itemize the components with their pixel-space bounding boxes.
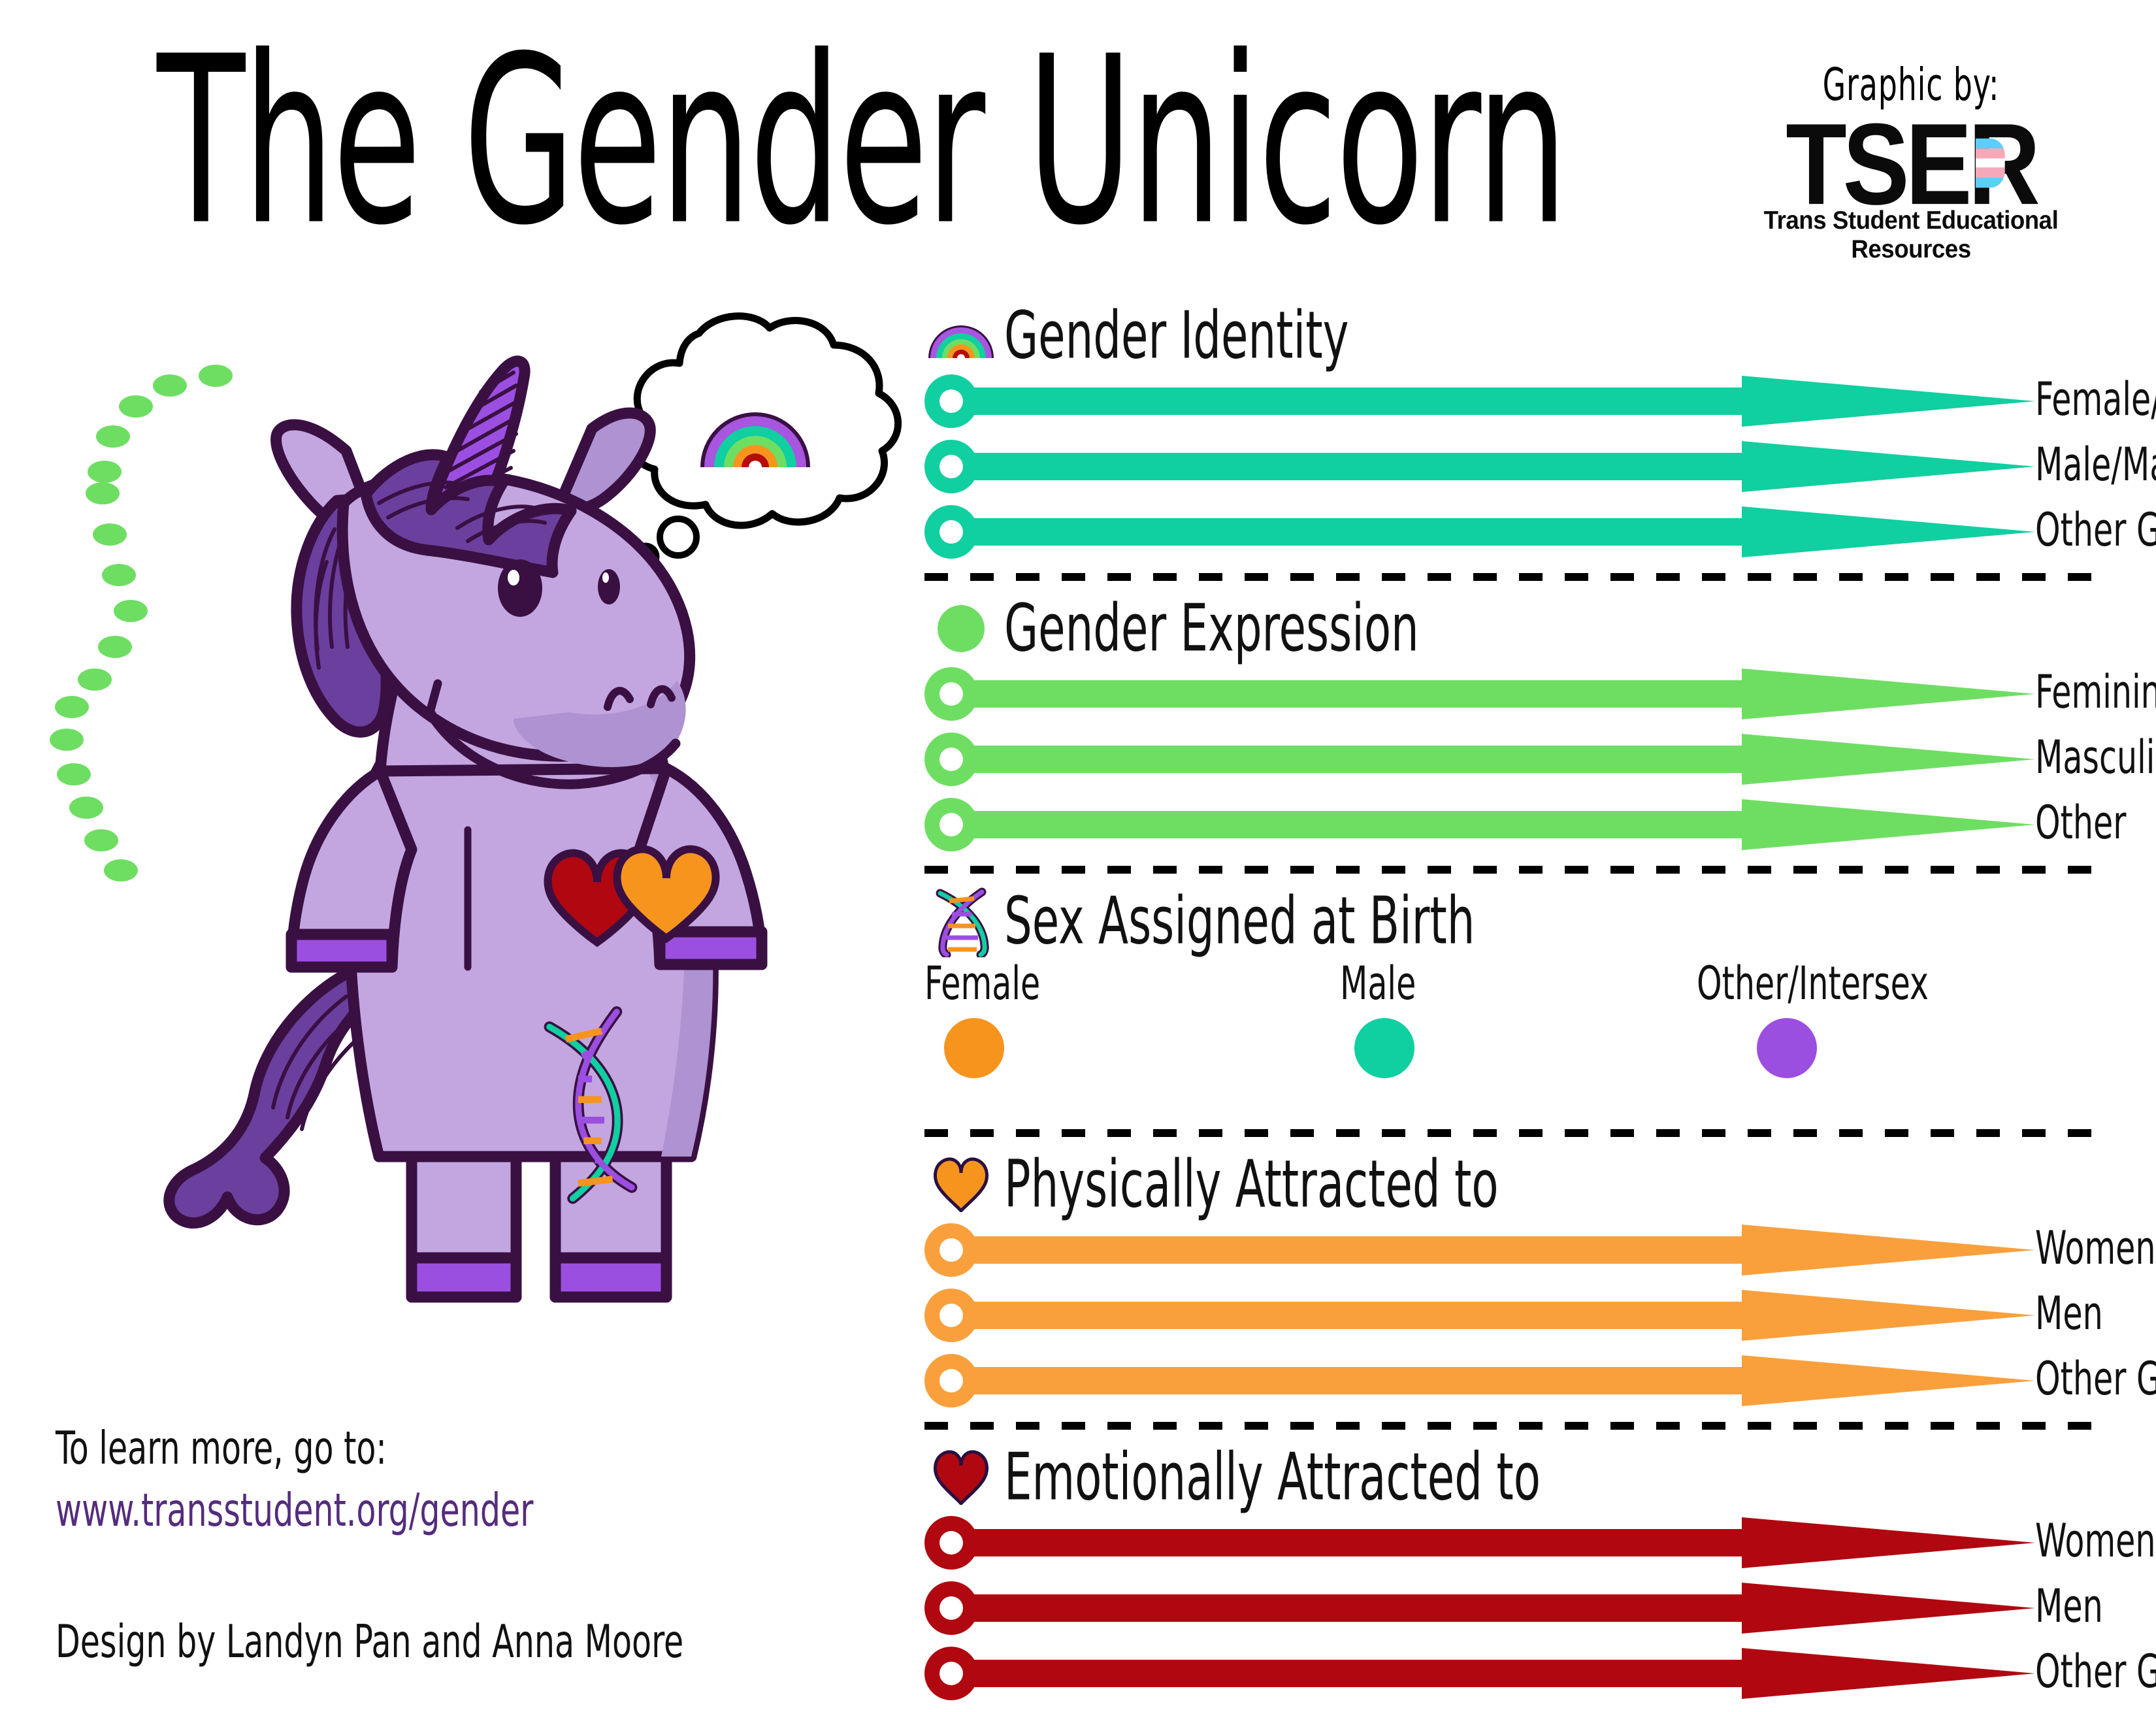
section-sex-assigned-at-birth: Sex Assigned at Birth Female Male Other/…	[924, 883, 2100, 1078]
orange-heart-icon	[924, 1157, 998, 1212]
graphic-credit: Graphic by: TSER Trans Student Education…	[1702, 62, 2120, 264]
option-label: Masculine	[2035, 730, 2156, 784]
footer: To learn more, go to: www.transstudent.o…	[56, 1421, 840, 1662]
sex-option-other-intersex[interactable]: Other/Intersex	[1697, 956, 1961, 1078]
option-row[interactable]: Men	[924, 1581, 2100, 1635]
section-divider	[924, 866, 2100, 874]
green-circle-icon	[924, 604, 998, 653]
option-row[interactable]: Feminine	[924, 667, 2100, 721]
tser-wordmark: TSER	[1786, 109, 2036, 219]
page-title: The Gender Unicorn	[157, 26, 1566, 257]
option-label: Women	[2035, 1221, 2156, 1275]
section-divider	[924, 1422, 2100, 1430]
option-label: Male/Man/Boy	[2035, 437, 2156, 491]
design-credit: Design by Landyn Pan and Anna Moore	[56, 1615, 745, 1668]
option-label: Men	[2035, 1579, 2103, 1633]
option-label: Other Gender(s)	[2035, 1644, 2156, 1698]
section-header: Emotionally Attracted to	[924, 1439, 2100, 1516]
section-title: Gender Identity	[1004, 298, 1348, 374]
sex-option-male[interactable]: Male	[1340, 956, 1604, 1078]
option-row[interactable]: Women	[924, 1516, 2100, 1570]
section-header: Sex Assigned at Birth	[924, 883, 2100, 960]
option-row[interactable]: Men	[924, 1289, 2100, 1342]
option-row[interactable]: Other	[924, 798, 2100, 851]
section-physically-attracted-to: Physically Attracted to Women Men Other …	[924, 1146, 2100, 1407]
option-label: Women	[2035, 1513, 2156, 1568]
option-row[interactable]: Masculine	[924, 733, 2100, 786]
dna-icon	[924, 885, 998, 957]
sex-option-female[interactable]: Female	[924, 956, 1188, 1078]
option-rows: Women Men Other Gender(s)	[924, 1516, 2100, 1700]
option-label: Female	[924, 956, 1157, 1010]
option-label: Men	[2035, 1286, 2103, 1340]
option-label: Other	[2035, 795, 2126, 849]
learn-more-label: To learn more, go to:	[56, 1421, 745, 1475]
rainbow-icon	[924, 312, 998, 359]
option-rows: Feminine Masculine Other	[924, 667, 2100, 851]
trans-flag-icon	[1976, 139, 2005, 188]
option-label: Female/Woman/Girl	[2035, 372, 2156, 426]
section-emotionally-attracted-to: Emotionally Attracted to Women Men Other…	[924, 1439, 2100, 1700]
option-label: Other/Intersex	[1697, 956, 1929, 1010]
section-divider	[924, 573, 2100, 581]
option-row[interactable]: Other Gender(s)	[924, 1647, 2100, 1700]
option-row[interactable]: Women	[924, 1223, 2100, 1277]
section-header: Gender Identity	[924, 297, 2100, 374]
male-dot	[1354, 1018, 1414, 1078]
section-title: Emotionally Attracted to	[1004, 1440, 1541, 1515]
section-title: Gender Expression	[1004, 591, 1419, 667]
section-title: Sex Assigned at Birth	[1004, 883, 1475, 959]
other-intersex-dot	[1757, 1018, 1817, 1078]
section-title: Physically Attracted to	[1004, 1147, 1499, 1223]
gender-unicorn-legend: Gender Identity Female/Woman/Girl Male/M…	[924, 297, 2100, 1712]
option-row[interactable]: Male/Man/Boy	[924, 440, 2100, 493]
option-label: Other Gender(s)	[2035, 1351, 2156, 1406]
section-gender-identity: Gender Identity Female/Woman/Girl Male/M…	[924, 297, 2100, 559]
option-label: Feminine	[2035, 665, 2156, 719]
section-header: Physically Attracted to	[924, 1146, 2100, 1223]
section-header: Gender Expression	[924, 590, 2100, 667]
option-rows: Women Men Other Gender(s)	[924, 1223, 2100, 1407]
website-link[interactable]: www.transstudent.org/gender	[56, 1483, 745, 1537]
female-dot	[944, 1018, 1004, 1078]
option-rows: Female/Woman/Girl Male/Man/Boy Other Gen…	[924, 374, 2100, 559]
unicorn-illustration	[39, 307, 862, 1385]
option-label: Other Gender(s)	[2035, 502, 2156, 557]
option-row[interactable]: Other Gender(s)	[924, 505, 2100, 559]
unicorn-character	[150, 307, 777, 1366]
option-row[interactable]: Other Gender(s)	[924, 1354, 2100, 1407]
option-label: Male	[1340, 956, 1573, 1010]
tser-tagline: Trans Student Educational Resources	[1714, 206, 2108, 264]
sex-options: Female Male Other/Intersex	[924, 956, 2100, 1078]
red-heart-icon	[924, 1450, 998, 1505]
option-row[interactable]: Female/Woman/Girl	[924, 374, 2100, 428]
section-divider	[924, 1129, 2100, 1137]
section-gender-expression: Gender Expression Feminine Masculine Oth…	[924, 590, 2100, 851]
